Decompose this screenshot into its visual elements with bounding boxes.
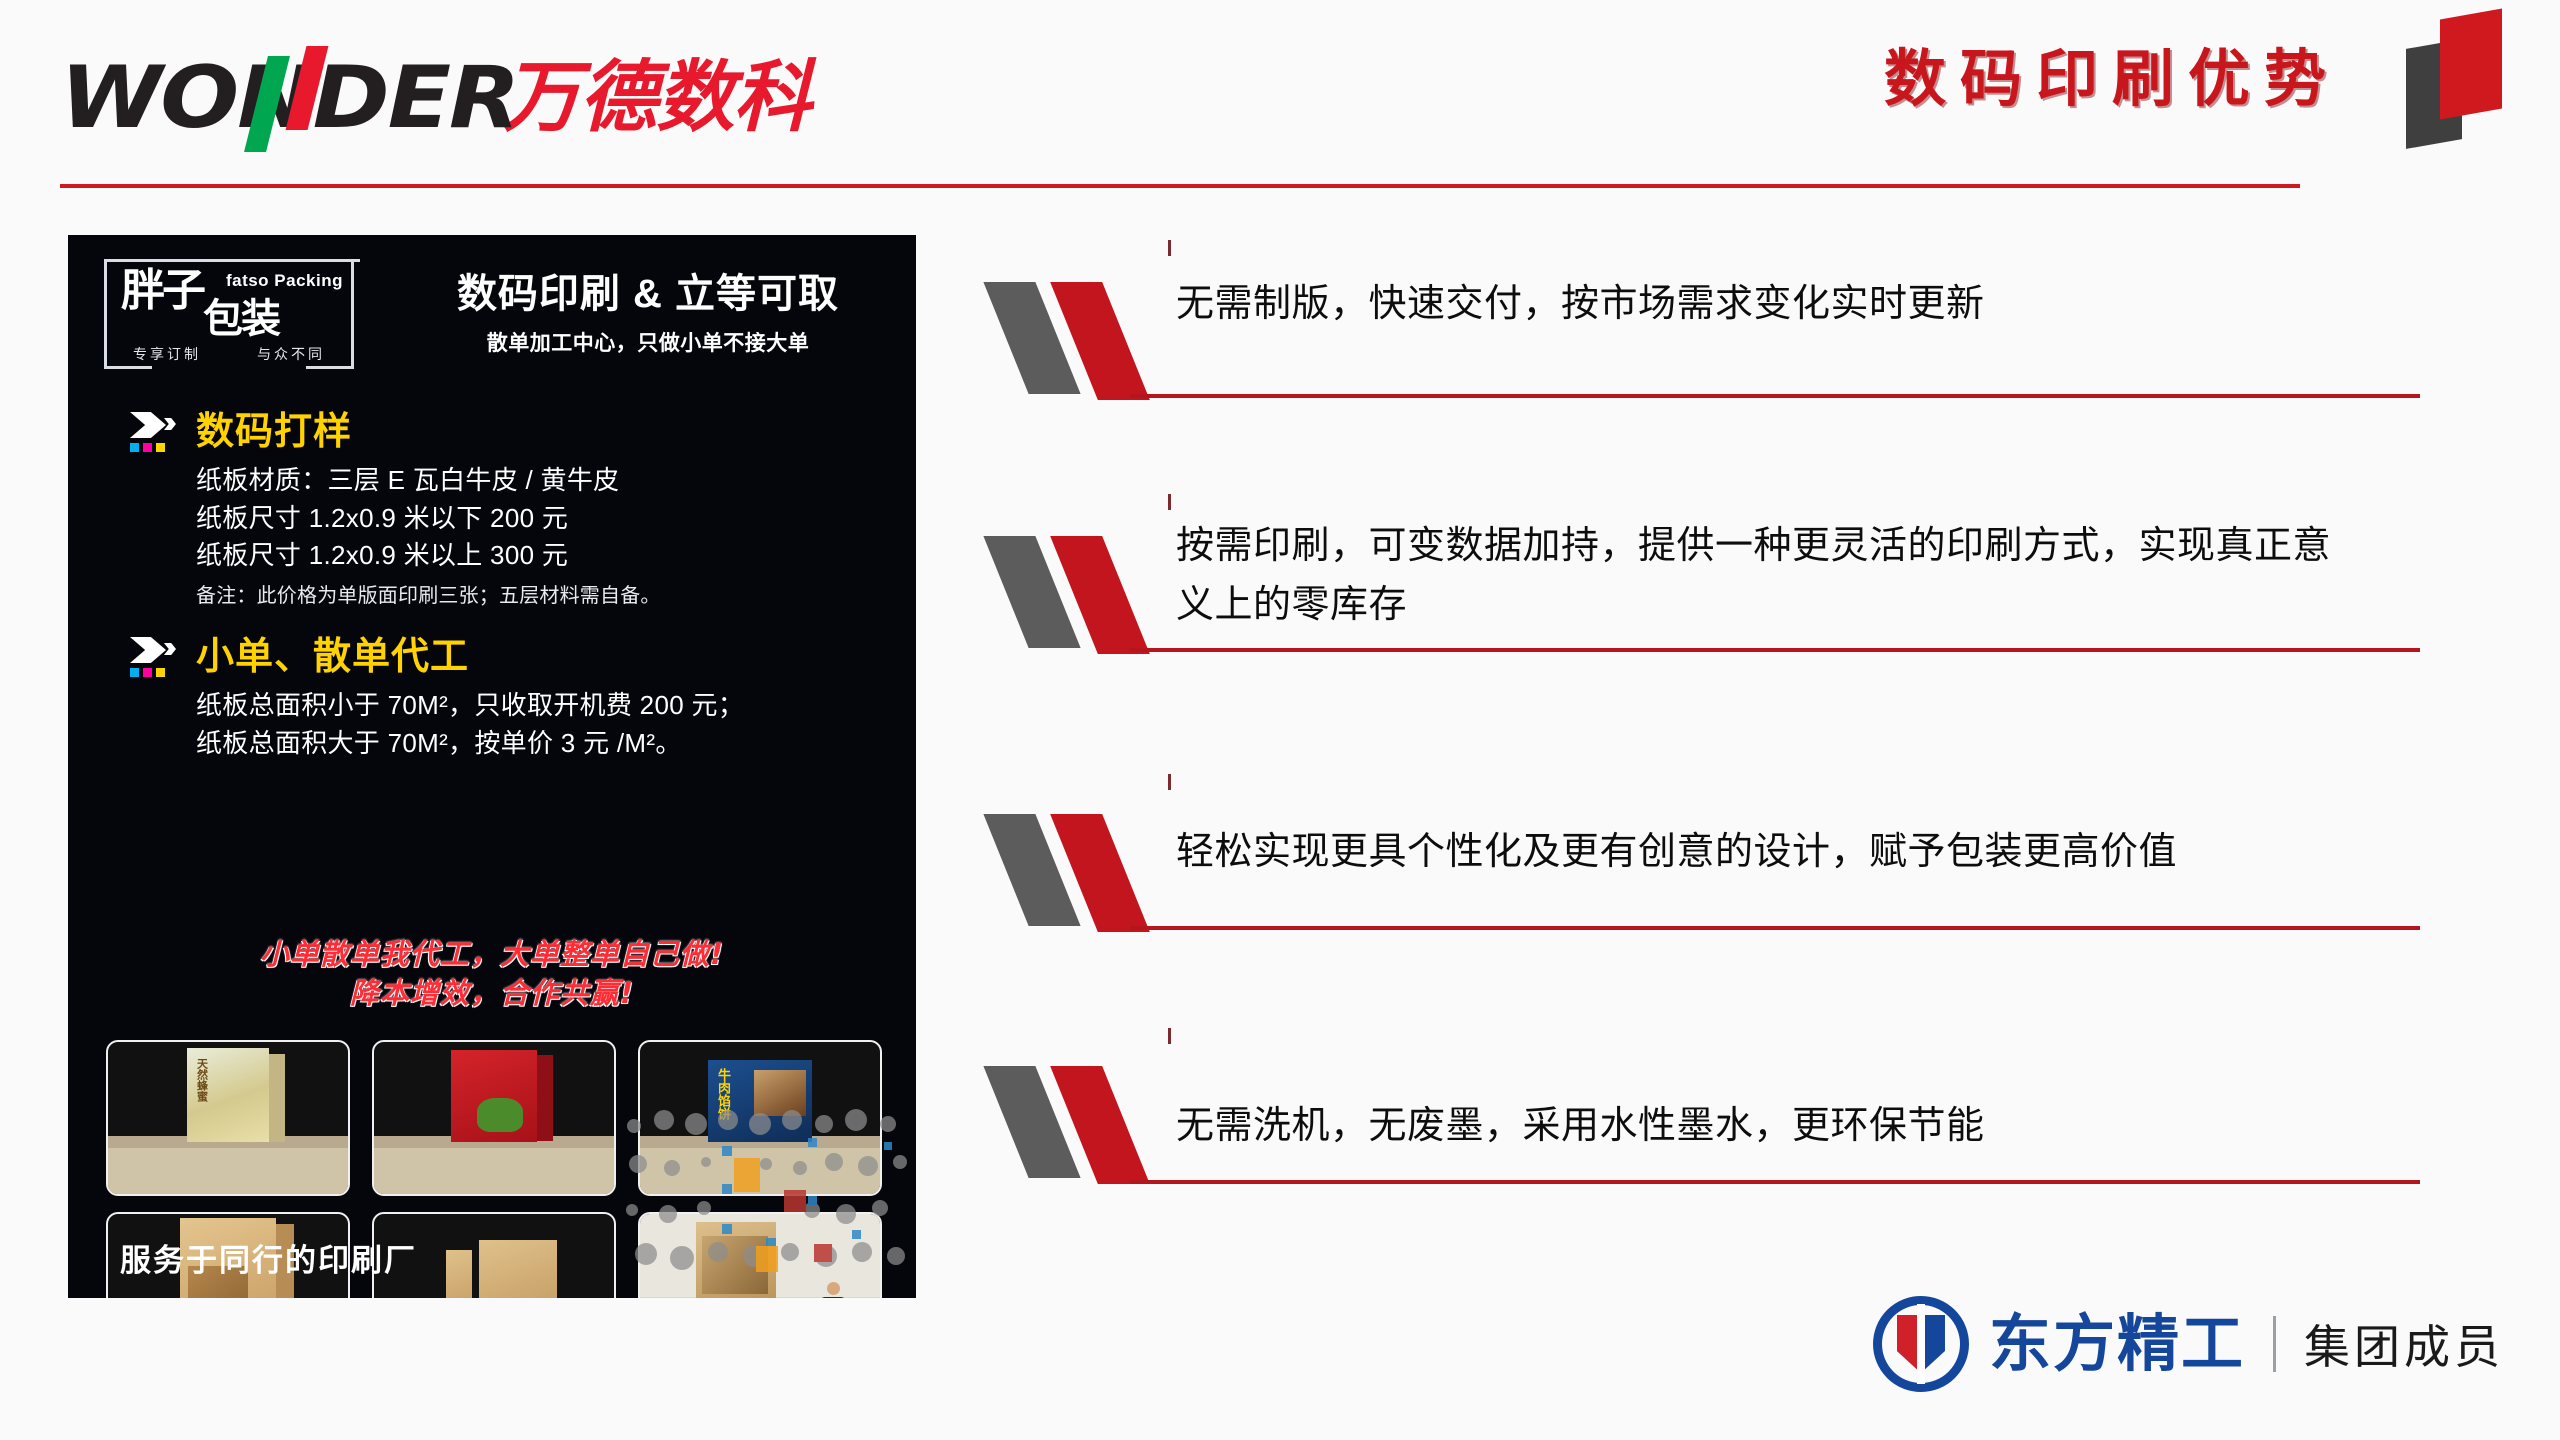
section-note: 备注：此价格为单版面印刷三张；五层材料需自备。 xyxy=(196,579,661,608)
slogan-line-1: 小单散单我代工，大单整单自己做! xyxy=(68,935,916,974)
logo-tagline-right: 与众不同 xyxy=(257,344,325,364)
bullet-marker xyxy=(1006,536,1166,654)
section-line: 纸板尺寸 1.2x0.9 米以上 300 元 xyxy=(196,537,661,575)
slide-header: WONDER 万德数科 数码印刷优势 xyxy=(0,0,2560,200)
advantage-item-4: 无需洗机，无废墨，采用水性墨水，更环保节能 xyxy=(1000,1010,2420,1260)
brand-logo: WONDER 万德数科 xyxy=(60,50,810,146)
poster-headline-block: 数码印刷 & 立等可取 散单加工中心，只做小单不接大单 xyxy=(408,271,888,357)
logo-frame-bottom-left xyxy=(104,366,152,369)
section-body: 纸板总面积小于 70M²，只收取开机费 200 元； 纸板总面积大于 70M²，… xyxy=(196,687,744,762)
section-header: 数码打样 xyxy=(124,410,661,454)
bullet-tick-icon xyxy=(1168,494,1171,510)
bullet-marker xyxy=(1006,282,1166,400)
section-line: 纸板材质：三层 E 瓦白牛皮 / 黄牛皮 xyxy=(196,462,661,500)
logo-divider xyxy=(2273,1316,2276,1372)
advantage-text: 轻松实现更具个性化及更有创意的设计，赋予包装更高价值 xyxy=(1176,822,2356,881)
advantage-text: 按需印刷，可变数据加持，提供一种更灵活的印刷方式，实现真正意义上的零库存 xyxy=(1176,516,2356,634)
header-divider xyxy=(60,184,2300,188)
bullet-marker xyxy=(1006,1066,1166,1184)
bullet-underline xyxy=(1130,648,2420,652)
chevron-arrow-icon xyxy=(124,635,182,679)
section-line: 纸板总面积小于 70M²，只收取开机费 200 元； xyxy=(196,687,744,725)
bullet-underline xyxy=(1130,394,2420,398)
group-member-logo: 东方精工 集团成员 xyxy=(1873,1296,2504,1392)
photo-row: 天然蜂蜜 牛肉馅饼 xyxy=(106,1040,882,1196)
advantage-text: 无需洗机，无废墨，采用水性墨水，更环保节能 xyxy=(1176,1096,2356,1155)
advantage-item-2: 按需印刷，可变数据加持，提供一种更灵活的印刷方式，实现真正意义上的零库存 xyxy=(1000,450,2420,760)
corner-decoration-icon xyxy=(2396,6,2514,146)
poster-subheadline: 散单加工中心，只做小单不接大单 xyxy=(408,327,888,357)
slogan-line-2: 降本增效，合作共赢! xyxy=(68,974,916,1013)
section-line: 纸板总面积大于 70M²，按单价 3 元 /M²。 xyxy=(196,725,744,763)
poster-footer-text: 服务于同行的印刷厂 xyxy=(120,1235,417,1280)
section-body: 纸板材质：三层 E 瓦白牛皮 / 黄牛皮 纸板尺寸 1.2x0.9 米以下 20… xyxy=(196,462,661,608)
bullet-tick-icon xyxy=(1168,774,1171,790)
chevron-arrow-icon xyxy=(124,410,182,454)
advantage-item-1: 无需制版，快速交付，按市场需求变化实时更新 xyxy=(1000,250,2420,450)
advantage-item-3: 轻松实现更具个性化及更有创意的设计，赋予包装更高价值 xyxy=(1000,760,2420,1010)
company-name: 东方精工 xyxy=(1989,1313,2245,1375)
poster-section-small-order-oem: 小单、散单代工 纸板总面积小于 70M²，只收取开机费 200 元； 纸板总面积… xyxy=(124,635,744,762)
promo-poster-image: 胖子 包装 fatso Packing 专享订制 与众不同 数码印刷 & 立等可… xyxy=(68,235,916,1298)
logo-name-english: fatso Packing xyxy=(226,271,343,291)
logo-name-primary: 胖子 xyxy=(121,269,203,313)
fatso-packing-logo: 胖子 包装 fatso Packing 专享订制 与众不同 xyxy=(104,259,354,369)
page-title: 数码印刷优势 xyxy=(1884,48,2340,110)
logo-frame-top xyxy=(104,259,360,262)
group-member-label: 集团成员 xyxy=(2304,1311,2504,1377)
poster-headline: 数码印刷 & 立等可取 xyxy=(408,271,888,317)
section-title: 数码打样 xyxy=(196,413,352,451)
section-line: 纸板尺寸 1.2x0.9 米以下 200 元 xyxy=(196,500,661,538)
product-photo-large-scenic-box xyxy=(638,1212,882,1298)
bullet-marker xyxy=(1006,814,1166,932)
poster-slogan: 小单散单我代工，大单整单自己做! 降本增效，合作共赢! xyxy=(68,935,916,1013)
brand-chinese-name: 万德数科 xyxy=(502,59,810,137)
product-photo-honey-gift-box: 天然蜂蜜 xyxy=(106,1040,350,1196)
wonder-wordmark: WONDER xyxy=(60,50,484,146)
logo-frame-bottom-right xyxy=(306,366,354,369)
bullet-tick-icon xyxy=(1168,240,1171,256)
product-photo-beef-pie-box: 牛肉馅饼 xyxy=(638,1040,882,1196)
logo-tagline-left: 专享订制 xyxy=(133,344,201,364)
dongfang-emblem-icon xyxy=(1873,1296,1969,1392)
section-title: 小单、散单代工 xyxy=(196,638,469,676)
bullet-underline xyxy=(1130,1180,2420,1184)
advantage-text: 无需制版，快速交付，按市场需求变化实时更新 xyxy=(1176,274,2356,333)
poster-section-digital-proofing: 数码打样 纸板材质：三层 E 瓦白牛皮 / 黄牛皮 纸板尺寸 1.2x0.9 米… xyxy=(124,410,661,608)
logo-name-secondary: 包装 xyxy=(203,299,279,339)
product-photo-red-gift-box xyxy=(372,1040,616,1196)
advantages-list: 无需制版，快速交付，按市场需求变化实时更新 按需印刷，可变数据加持，提供一种更灵… xyxy=(1000,250,2420,1260)
section-header: 小单、散单代工 xyxy=(124,635,744,679)
bullet-underline xyxy=(1130,926,2420,930)
corner-red-shape xyxy=(2440,9,2502,120)
bullet-tick-icon xyxy=(1168,1028,1171,1044)
